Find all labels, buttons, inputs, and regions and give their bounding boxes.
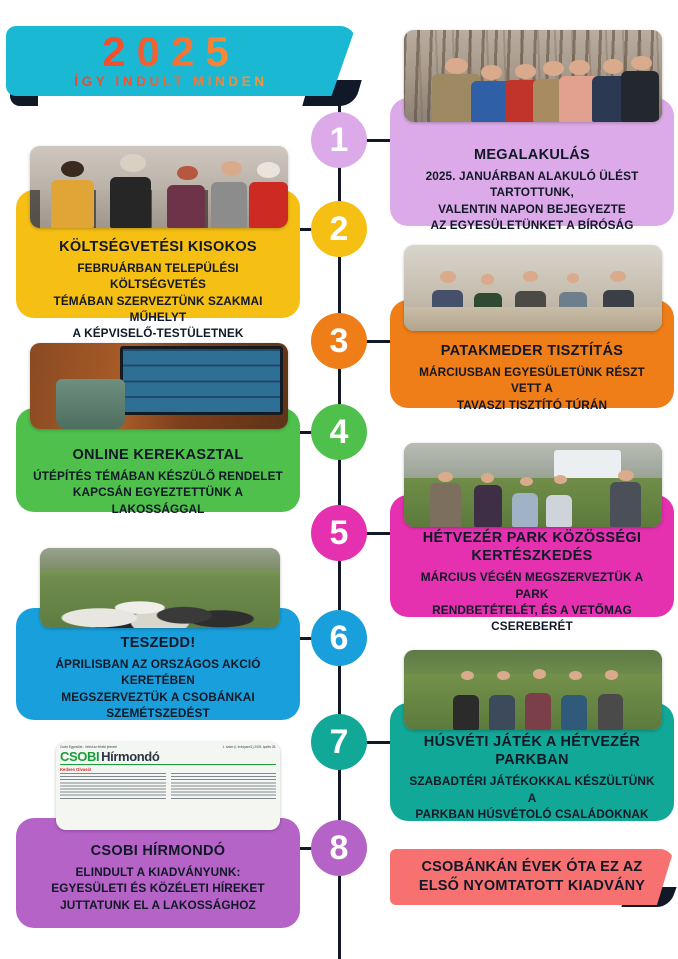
card-6-title: TESZEDD! xyxy=(30,634,286,652)
card-3-photo xyxy=(404,245,662,331)
card-2-body: FEBRUÁRBAN TELEPÜLÉSI KÖLTSÉGVETÉS TÉMÁB… xyxy=(30,260,286,341)
card-8-body: ELINDULT A KIADVÁNYUNK: EGYESÜLETI ÉS KÖ… xyxy=(30,864,286,913)
timeline-circle-5[interactable]: 5 xyxy=(311,505,367,561)
timeline-circle-6[interactable]: 6 xyxy=(311,610,367,666)
card-2-title: KÖLTSÉGVETÉSI KISOKOS xyxy=(30,238,286,256)
card-3-title: PATAKMEDER TISZTÍTÁS xyxy=(404,342,660,360)
timeline-circle-3-number: 3 xyxy=(330,322,349,361)
card-1-photo xyxy=(404,30,662,122)
card-5-photo xyxy=(404,443,662,527)
card-8-title: CSOBI HÍRMONDÓ xyxy=(30,842,286,860)
card-7-title: HÚSVÉTI JÁTÉK A HÉTVEZÉR PARKBAN xyxy=(404,733,660,769)
card-6-body: ÁPRILISBAN AZ ORSZÁGOS AKCIÓ KERETÉBEN M… xyxy=(30,656,286,721)
timeline-stub-7 xyxy=(365,741,393,744)
card-1-body: 2025. JANUÁRBAN ALAKULÓ ÜLÉST TARTOTTUNK… xyxy=(404,168,660,233)
timeline-circle-4-number: 4 xyxy=(330,413,349,452)
card-4-title: ONLINE KEREKASZTAL xyxy=(30,446,286,464)
timeline-circle-8-number: 8 xyxy=(330,829,349,868)
timeline-circle-1-number: 1 xyxy=(330,121,349,160)
newsletter-body-text-left xyxy=(60,773,166,799)
bottom-banner-body: CSOBÁNKÁN ÉVEK ÓTA EZ AZ ELSŐ NYOMTATOTT… xyxy=(390,849,674,905)
timeline-circle-6-number: 6 xyxy=(330,619,349,658)
timeline-circle-7[interactable]: 7 xyxy=(311,714,367,770)
card-5-body: MÁRCIUS VÉGÉN MEGSZERVEZTÜK A PARK RENDB… xyxy=(404,569,660,634)
newsletter-masthead-csobi: CSOBI xyxy=(60,750,99,763)
timeline-circle-3[interactable]: 3 xyxy=(311,313,367,369)
timeline-circle-1[interactable]: 1 xyxy=(311,112,367,168)
card-2-photo xyxy=(30,146,288,228)
timeline-stub-3 xyxy=(365,340,393,343)
timeline-card-8[interactable]: CSOBI HÍRMONDÓ ELINDULT A KIADVÁNYUNK: E… xyxy=(16,818,300,928)
card-6-photo xyxy=(40,548,280,628)
newsletter-rule xyxy=(60,764,276,765)
card-4-body: ÚTÉPÍTÉS TÉMÁBAN KÉSZÜLŐ RENDELET KAPCSÁ… xyxy=(30,468,286,517)
header-banner: 2025 ÍGY INDULT MINDEN xyxy=(6,26,358,98)
timeline-stub-1 xyxy=(365,139,393,142)
timeline-circle-8[interactable]: 8 xyxy=(311,820,367,876)
newsletter-kicker-right: 1. szám (I. évfolyam/1) 2025. április 25… xyxy=(222,745,276,749)
card-5-title: HÉTVEZÉR PARK KÖZÖSSÉGI KERTÉSZKEDÉS xyxy=(404,529,660,565)
newsletter-lead-heading: Kedves Olvasó! xyxy=(60,767,166,772)
card-1-title: MEGALAKULÁS xyxy=(404,146,660,164)
bottom-banner: CSOBÁNKÁN ÉVEK ÓTA EZ AZ ELSŐ NYOMTATOTT… xyxy=(390,849,674,907)
header-year: 2025 xyxy=(6,28,336,76)
card-3-body: MÁRCIUSBAN EGYESÜLETÜNK RÉSZT VETT A TAV… xyxy=(404,364,660,413)
header-subtitle: ÍGY INDULT MINDEN xyxy=(6,74,336,89)
card-7-photo xyxy=(404,650,662,730)
timeline-circle-2[interactable]: 2 xyxy=(311,201,367,257)
timeline-circle-5-number: 5 xyxy=(330,514,349,553)
infographic-page: 2025 ÍGY INDULT MINDEN MEGALAKULÁS 2025.… xyxy=(0,0,678,959)
timeline-circle-2-number: 2 xyxy=(330,210,349,249)
newsletter-masthead-hirmondo: Hírmondó xyxy=(101,750,159,763)
timeline-circle-7-number: 7 xyxy=(330,723,349,762)
card-8-photo-newsletter: Csobi Egyesület - Veled az élhető jelené… xyxy=(56,742,280,830)
card-4-photo xyxy=(30,343,288,429)
bottom-banner-text: CSOBÁNKÁN ÉVEK ÓTA EZ AZ ELSŐ NYOMTATOTT… xyxy=(401,858,663,896)
newsletter-body-text-right xyxy=(171,773,277,799)
timeline-stub-5 xyxy=(365,532,393,535)
card-7-body: SZABADTÉRI JÁTÉKOKKAL KÉSZÜLTÜNK A PARKB… xyxy=(404,773,660,822)
timeline-circle-4[interactable]: 4 xyxy=(311,404,367,460)
